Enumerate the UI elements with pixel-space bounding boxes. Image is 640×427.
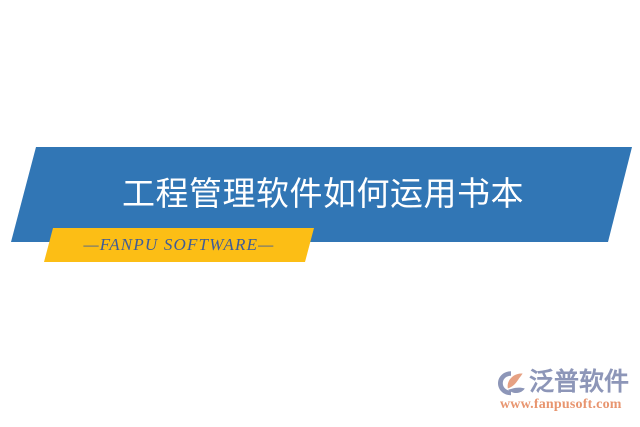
brand-logo-row: 泛普软件: [496, 368, 629, 398]
fanpu-logo-icon: [496, 369, 526, 397]
page-title: 工程管理软件如何运用书本: [0, 168, 640, 222]
page-subtitle: —FANPU SOFTWARE—: [44, 229, 314, 260]
brand-url: www.fanpusoft.com: [500, 396, 622, 414]
brand-wordmark: 泛普软件: [529, 369, 629, 397]
slide-canvas: 工程管理软件如何运用书本 —FANPU SOFTWARE— 泛普软件 www.f…: [0, 0, 640, 427]
brand-logo: 泛普软件 www.fanpusoft.com: [496, 368, 640, 420]
